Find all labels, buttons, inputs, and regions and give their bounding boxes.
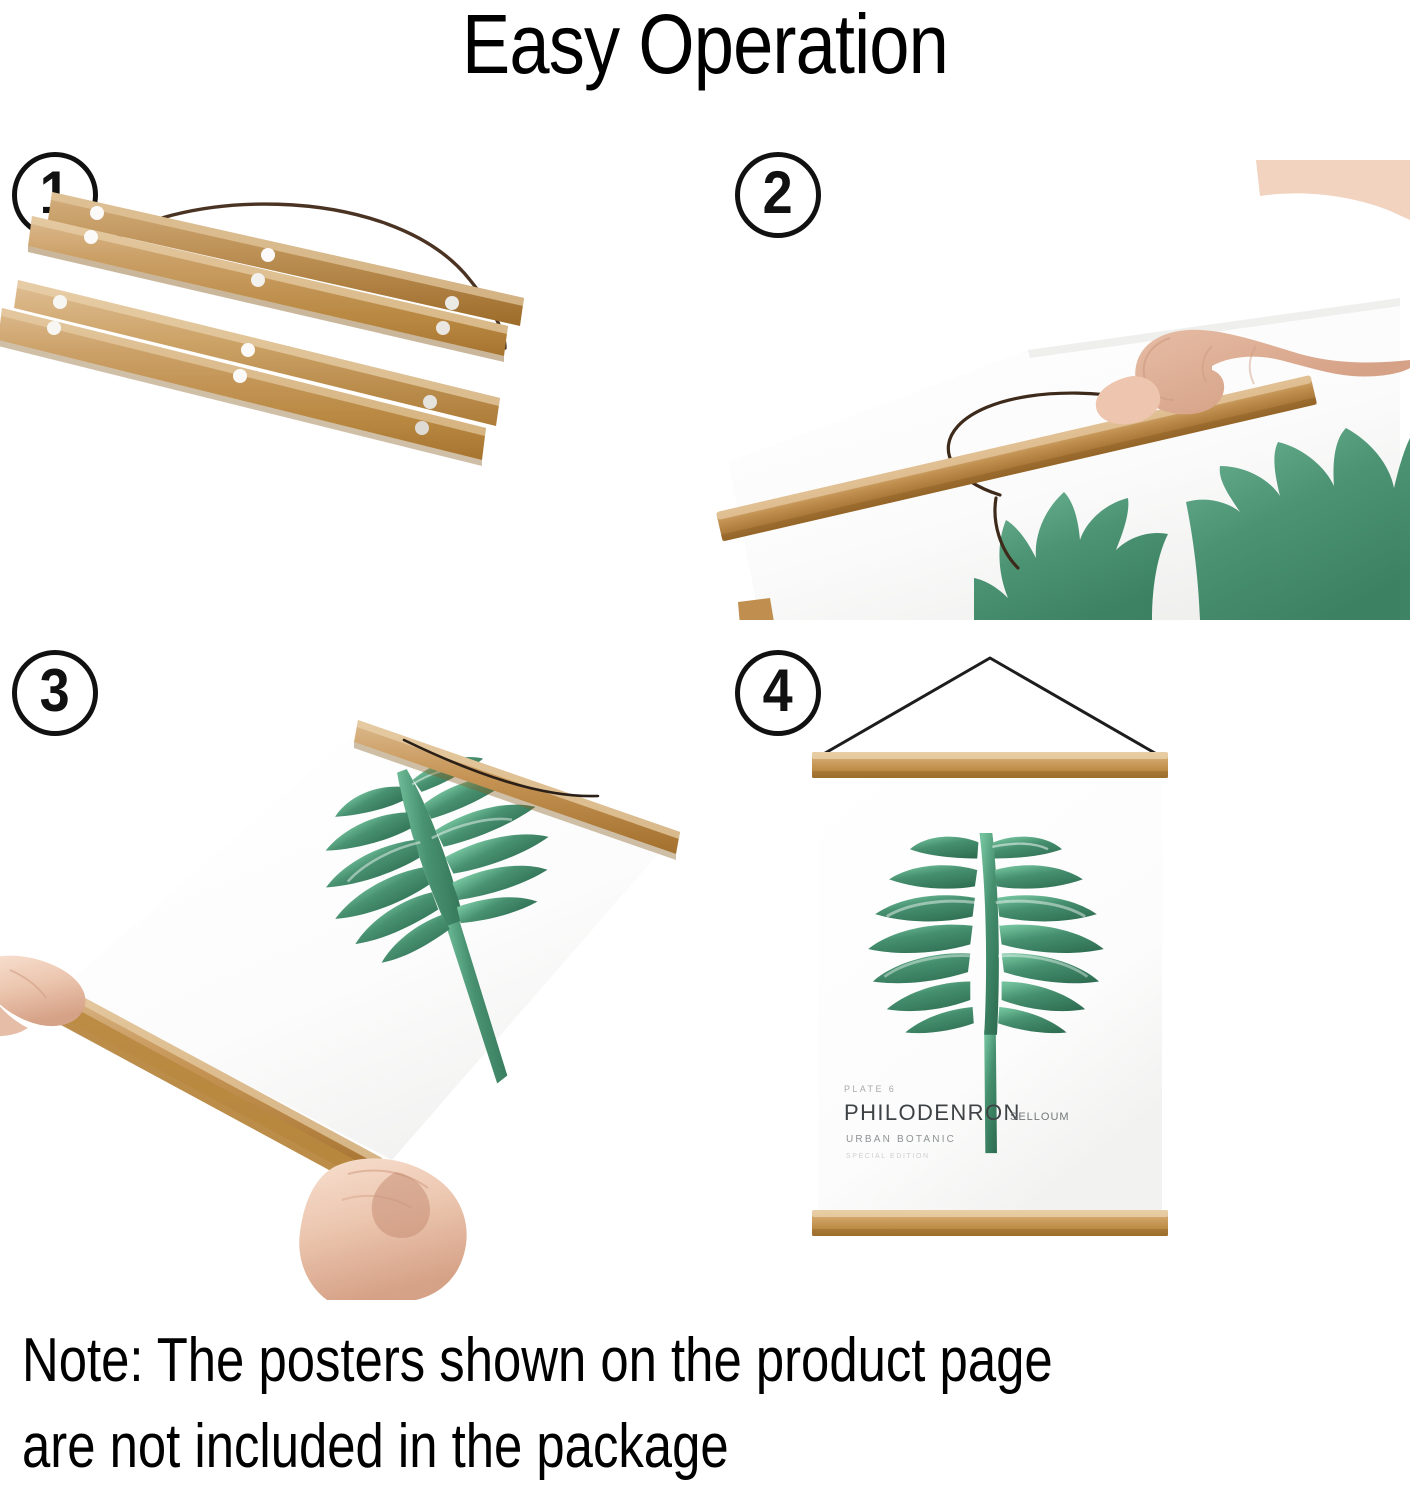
assembled-poster-held-diagram: PLATE 6 PHILODENRON SELLOUM URBAN BOTANI…	[0, 640, 700, 1300]
infographic-canvas: Easy Operation 1	[0, 0, 1410, 1497]
magnet-dot	[445, 296, 459, 310]
wood-bar-top	[812, 752, 1168, 778]
wood-slat-tip	[738, 598, 774, 620]
note-text: Note: The posters shown on the product p…	[22, 1318, 1154, 1489]
note-line-2: are not included in the package	[22, 1404, 1154, 1490]
hand-placing-slat-diagram	[700, 150, 1410, 620]
magnet-dot	[415, 421, 429, 435]
page-title: Easy Operation	[99, 0, 1312, 93]
magnet-dot	[436, 321, 450, 335]
hanging-cord	[820, 658, 1160, 756]
poster-species-label: SELLOUM	[1010, 1111, 1070, 1123]
poster-name-label: PHILODENRON	[844, 1100, 1021, 1125]
frame-parts-diagram	[0, 150, 700, 580]
magnet-dot	[423, 395, 437, 409]
step-3-illustration: PLATE 6 PHILODENRON SELLOUM URBAN BOTANI…	[0, 640, 700, 1300]
step-1-illustration	[0, 150, 700, 580]
magnet-dot	[53, 295, 67, 309]
note-line-1: Note: The posters shown on the product p…	[22, 1318, 1154, 1404]
magnet-dot	[233, 369, 247, 383]
poster-edition-label: SPECIAL EDITION	[846, 1153, 930, 1160]
magnet-dot	[47, 321, 61, 335]
hanging-frame-diagram: PLATE 6 PHILODENRON SELLOUM URBAN BOTANI…	[700, 640, 1410, 1300]
hand-graphic-right	[299, 1158, 466, 1300]
magnet-dot	[261, 248, 275, 262]
step-4-illustration: PLATE 6 PHILODENRON SELLOUM URBAN BOTANI…	[700, 640, 1410, 1300]
magnet-dot	[84, 230, 98, 244]
magnet-dot	[241, 343, 255, 357]
step-2-illustration	[700, 150, 1410, 620]
wood-bar-bottom	[812, 1210, 1168, 1236]
poster-brand-label: URBAN BOTANIC	[846, 1134, 956, 1145]
poster-plate-label: PLATE 6	[844, 1084, 896, 1094]
magnet-dot	[251, 273, 265, 287]
magnet-dot	[90, 206, 104, 220]
